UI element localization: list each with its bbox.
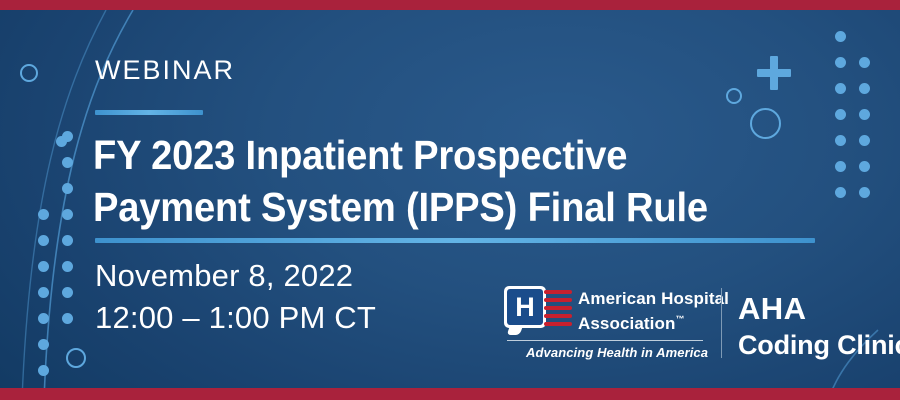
aha-name-line-2-text: Association (578, 314, 675, 333)
aha-flag-icon (544, 288, 572, 332)
title-divider (95, 238, 815, 243)
coding-clinic-logo: AHA Coding Clinic® (738, 292, 900, 361)
page-title: FY 2023 Inpatient Prospective Payment Sy… (93, 129, 744, 233)
aha-mark-letter: H (507, 289, 543, 325)
coding-clinic-name-text: Coding Clinic (738, 330, 900, 360)
event-time: 12:00 – 1:00 PM CT (95, 297, 376, 339)
page-title-line-2: Payment System (IPPS) Final Rule (93, 181, 744, 233)
event-datetime: November 8, 2022 12:00 – 1:00 PM CT (95, 255, 376, 339)
coding-clinic-aha: AHA (738, 292, 900, 325)
event-date: November 8, 2022 (95, 255, 376, 297)
eyebrow-divider (95, 110, 203, 115)
aha-name-line-1: American Hospital (578, 288, 729, 309)
aha-logo: H American Hospital Association™ Advanci… (504, 286, 709, 362)
aha-logo-mark-icon: H (504, 286, 570, 336)
coding-clinic-name: Coding Clinic® (738, 325, 900, 361)
aha-bubble-icon: H (504, 286, 546, 328)
bottom-accent-bar (0, 388, 900, 400)
webinar-banner: WEBINAR FY 2023 Inpatient Prospective Pa… (0, 0, 900, 400)
logo-separator (721, 288, 722, 358)
banner-content: WEBINAR FY 2023 Inpatient Prospective Pa… (0, 0, 900, 400)
top-accent-bar (0, 0, 900, 10)
aha-name-line-2: Association™ (578, 309, 729, 334)
trademark-symbol: ™ (675, 314, 684, 324)
aha-tagline: Advancing Health in America (526, 345, 708, 360)
aha-logo-name: American Hospital Association™ (578, 288, 729, 334)
eyebrow-label: WEBINAR (95, 57, 235, 84)
aha-logo-divider (507, 340, 703, 341)
page-title-line-1: FY 2023 Inpatient Prospective (93, 129, 744, 181)
